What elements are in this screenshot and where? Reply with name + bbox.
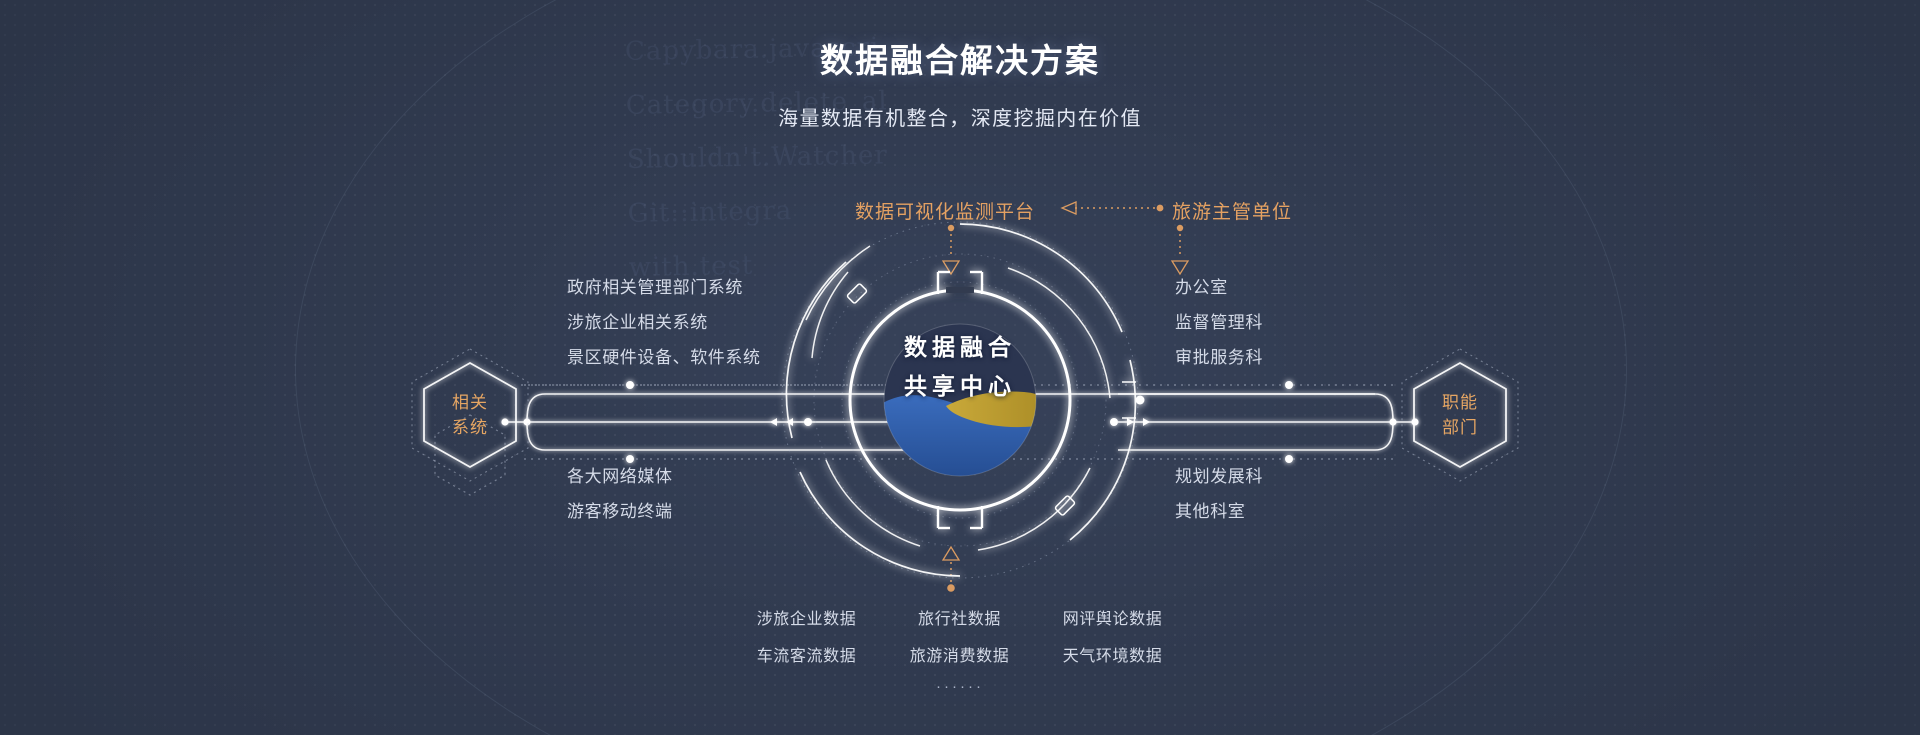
- list-item: 涉旅企业相关系统: [567, 305, 761, 340]
- list-item: 游客移动终端: [567, 494, 673, 529]
- left-sources-lower-list: 各大网络媒体 游客移动终端: [567, 459, 673, 529]
- left-sources-upper-list: 政府相关管理部门系统 涉旅企业相关系统 景区硬件设备、软件系统: [567, 270, 761, 375]
- right-departments-lower-list: 规划发展科 其他科室: [1175, 459, 1263, 529]
- data-grid-cell: 天气环境数据: [1036, 642, 1189, 666]
- header: 数据融合解决方案 海量数据有机整合，深度挖掘内在价值: [0, 34, 1920, 131]
- data-grid-row: 车流客流数据 旅游消费数据 天气环境数据: [730, 635, 1190, 672]
- page-subtitle: 海量数据有机整合，深度挖掘内在价值: [0, 102, 1920, 131]
- list-item: 规划发展科: [1175, 459, 1263, 494]
- list-item: 办公室: [1175, 270, 1263, 305]
- data-grid-cell: 车流客流数据: [730, 642, 883, 666]
- core-label: 数据融合 共享中心: [770, 328, 1150, 406]
- label-tourism-authority[interactable]: 旅游主管单位: [1172, 197, 1292, 224]
- infographic-stage: Capybara.javascri Category.delete_al Sho…: [0, 0, 1920, 735]
- data-grid-cell: 网评舆论数据: [1036, 605, 1189, 629]
- hexagon-right-line-2: 部门: [1442, 415, 1478, 440]
- data-grid-row: 涉旅企业数据 旅行社数据 网评舆论数据: [730, 598, 1190, 635]
- list-item: 政府相关管理部门系统: [567, 270, 761, 305]
- list-item: 监督管理科: [1175, 305, 1263, 340]
- list-item: 各大网络媒体: [567, 459, 673, 494]
- label-visualization-platform[interactable]: 数据可视化监测平台: [855, 197, 1035, 224]
- list-item: 审批服务科: [1175, 340, 1263, 375]
- data-sources-grid: 涉旅企业数据 旅行社数据 网评舆论数据 车流客流数据 旅游消费数据 天气环境数据…: [730, 598, 1190, 695]
- hexagon-left-line-2: 系统: [452, 415, 488, 440]
- hexagon-left-line-1: 相关: [452, 390, 488, 415]
- data-grid-cell: 涉旅企业数据: [730, 605, 883, 629]
- core-line-2: 共享中心: [770, 367, 1150, 406]
- core-line-1: 数据融合: [770, 328, 1150, 367]
- data-grid-cell: 旅行社数据: [883, 605, 1036, 629]
- center-hub: 数据融合 共享中心: [770, 210, 1150, 590]
- hexagon-related-systems[interactable]: 相关 系统: [400, 345, 540, 485]
- data-grid-ellipsis: ······: [730, 678, 1190, 695]
- hexagon-left-label: 相关 系统: [400, 345, 540, 485]
- list-item: 景区硬件设备、软件系统: [567, 340, 761, 375]
- page-title: 数据融合解决方案: [0, 34, 1920, 82]
- data-grid-cell: 旅游消费数据: [883, 642, 1036, 666]
- right-departments-upper-list: 办公室 监督管理科 审批服务科: [1175, 270, 1263, 375]
- list-item: 其他科室: [1175, 494, 1263, 529]
- hexagon-right-label: 职能 部门: [1390, 345, 1530, 485]
- hexagon-functional-departments[interactable]: 职能 部门: [1390, 345, 1530, 485]
- hexagon-right-line-1: 职能: [1442, 390, 1478, 415]
